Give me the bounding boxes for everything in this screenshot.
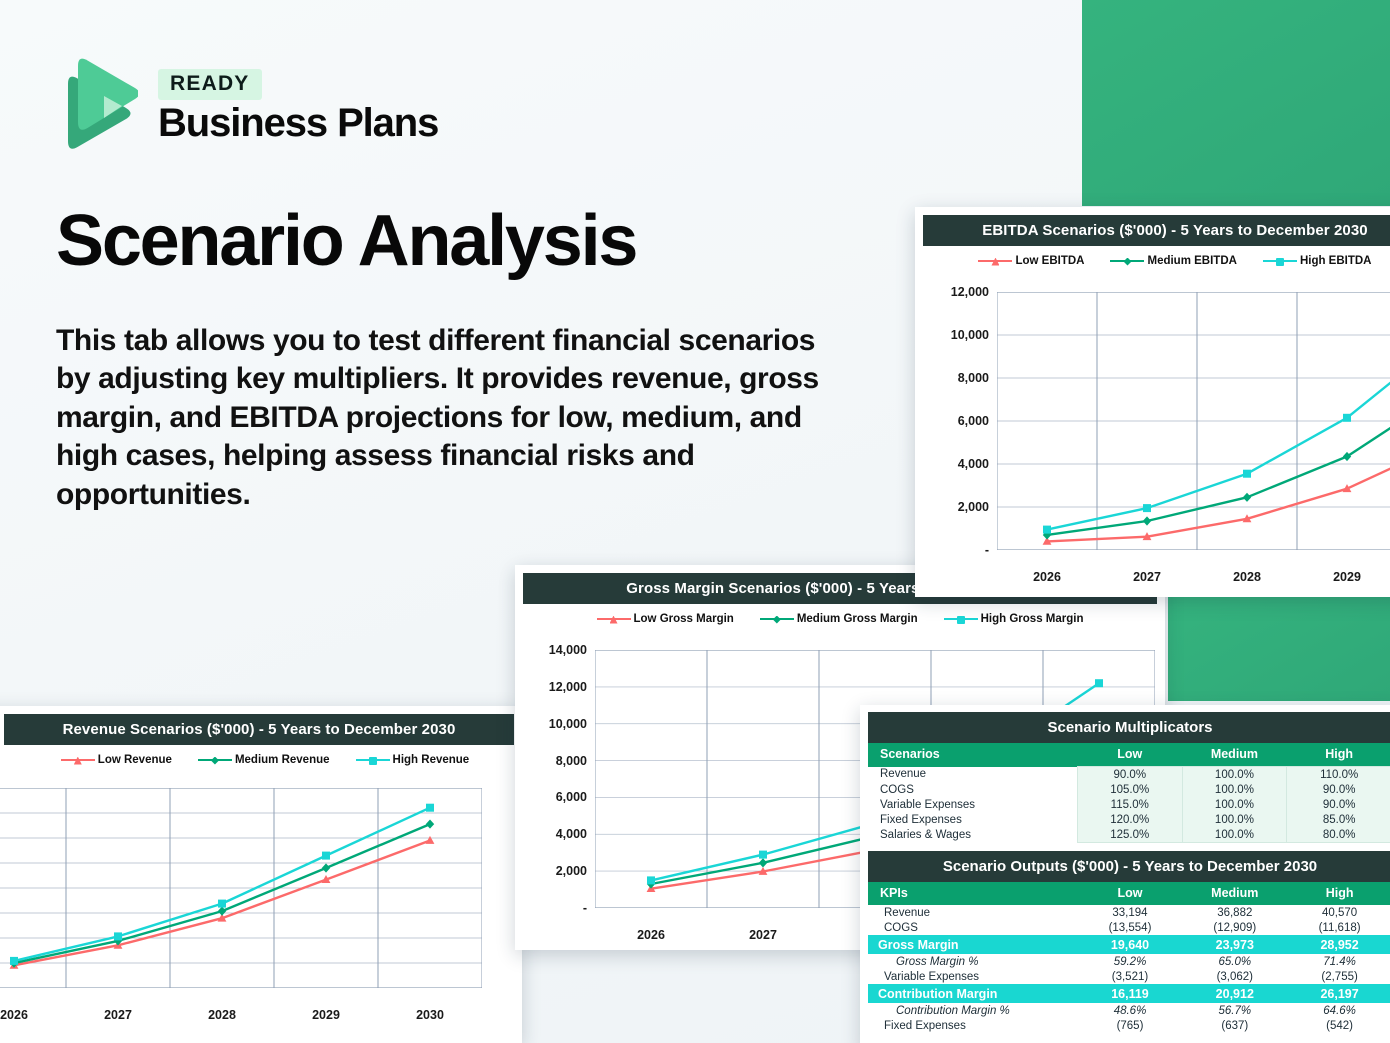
y-axis-tick: 10,000 [517, 717, 587, 731]
legend-label: Low EBITDA [1015, 255, 1084, 267]
cell-high: (2,755) [1287, 969, 1390, 984]
cell-low: 19,640 [1078, 935, 1183, 954]
table-row: Variable Expenses115.0%100.0%90.0% [868, 797, 1390, 812]
legend-item-high-ebitda[interactable]: High EBITDA [1263, 255, 1372, 267]
cell-medium: 56.7% [1182, 1003, 1287, 1018]
x-axis-tick: 2027 [749, 928, 777, 942]
legend-marker-icon [198, 755, 232, 766]
poster-canvas: READY Business Plans Scenario Analysis T… [0, 0, 1390, 1043]
row-label: Revenue [868, 767, 1077, 783]
y-axis-tick: 12,000 [517, 680, 587, 694]
series-line-medium-ebitda [1047, 391, 1390, 535]
cell-medium: (637) [1182, 1018, 1287, 1033]
cell-low: 48.6% [1078, 1003, 1183, 1018]
plot-svg [0, 788, 482, 988]
decorative-green-block-middle [1168, 591, 1390, 701]
y-axis-tick: 4,000 [517, 827, 587, 841]
table-row-total: Contribution Margin16,11920,91226,197 [868, 984, 1390, 1003]
table-header-row: Scenarios Low Medium High [868, 743, 1390, 767]
cell-high: 64.6% [1287, 1003, 1390, 1018]
data-point-marker [647, 876, 655, 884]
multiplicators-title: Scenario Multiplicators [868, 712, 1390, 743]
row-label: Variable Expenses [868, 797, 1077, 812]
scenario-multiplicators-table: Scenarios Low Medium High Revenue90.0%10… [868, 743, 1390, 843]
cell-high: (542) [1287, 1018, 1390, 1033]
data-point-marker [322, 863, 330, 872]
y-axis-tick: 12,000 [919, 285, 989, 299]
brand-name: Business Plans [158, 102, 438, 144]
col-scenarios: Scenarios [868, 743, 1077, 767]
legend-label: High EBITDA [1300, 255, 1372, 267]
row-label: Gross Margin % [868, 954, 1078, 969]
cell-high: 28,952 [1287, 935, 1390, 954]
cell-medium: 36,882 [1182, 905, 1287, 920]
y-axis-tick: 14,000 [517, 643, 587, 657]
legend-item-medium-revenue[interactable]: Medium Revenue [198, 754, 330, 766]
cell-high[interactable]: 110.0% [1287, 767, 1390, 783]
table-row-total: Gross Margin19,64023,97328,952 [868, 935, 1390, 954]
table-row: COGS105.0%100.0%90.0% [868, 782, 1390, 797]
cell-medium[interactable]: 100.0% [1182, 782, 1287, 797]
legend-item-high-gross-margin[interactable]: High Gross Margin [944, 613, 1084, 625]
x-axis-tick: 2030 [416, 1008, 444, 1022]
plot-area: 12,00010,0008,0006,0004,0002,000-2026202… [997, 292, 1390, 550]
table-row: Fixed Expenses120.0%100.0%85.0% [868, 812, 1390, 827]
legend-marker-icon [597, 614, 631, 625]
cell-low[interactable]: 120.0% [1077, 812, 1182, 827]
legend-item-medium-gross-margin[interactable]: Medium Gross Margin [760, 613, 918, 625]
y-axis-tick: 2,000 [517, 864, 587, 878]
row-label: Gross Margin [868, 935, 1078, 954]
table-row: Contribution Margin %48.6%56.7%64.6% [868, 1003, 1390, 1018]
data-point-marker [10, 957, 18, 965]
data-point-marker [218, 900, 226, 908]
legend-marker-icon [944, 614, 978, 625]
table-row: Gross Margin %59.2%65.0%71.4% [868, 954, 1390, 969]
data-point-marker [426, 836, 435, 844]
row-label: Revenue [868, 905, 1078, 920]
data-point-marker [1043, 526, 1051, 534]
cell-low: 59.2% [1078, 954, 1183, 969]
cell-low[interactable]: 105.0% [1077, 782, 1182, 797]
cell-high[interactable]: 80.0% [1287, 827, 1390, 843]
row-label: Fixed Expenses [868, 812, 1077, 827]
outputs-title: Scenario Outputs ($'000) - 5 Years to De… [868, 851, 1390, 882]
chart-legend: Low RevenueMedium RevenueHigh Revenue [0, 745, 522, 770]
chart-legend: Low Gross MarginMedium Gross MarginHigh … [515, 604, 1165, 629]
data-point-marker [218, 907, 226, 916]
cell-high: (11,618) [1287, 920, 1390, 935]
cell-medium[interactable]: 100.0% [1182, 812, 1287, 827]
table-row: Salaries & Wages125.0%100.0%80.0% [868, 827, 1390, 843]
series-line-high-ebitda [1047, 337, 1390, 529]
col-low: Low [1077, 743, 1182, 767]
scenario-tables-card: Scenario Multiplicators Scenarios Low Me… [860, 705, 1390, 1043]
cell-low[interactable]: 115.0% [1077, 797, 1182, 812]
page-description: This tab allows you to test different fi… [56, 322, 856, 514]
chart-title: Revenue Scenarios ($'000) - 5 Years to D… [4, 714, 514, 745]
cell-medium[interactable]: 100.0% [1182, 827, 1287, 843]
cell-medium: 23,973 [1182, 935, 1287, 954]
legend-marker-icon [356, 755, 390, 766]
x-axis-tick: 2026 [0, 1008, 28, 1022]
legend-marker-icon [760, 614, 794, 625]
data-point-marker [1343, 414, 1351, 422]
x-axis-tick: 2029 [1333, 570, 1361, 584]
cell-low: (13,554) [1078, 920, 1183, 935]
y-axis-tick: - [517, 901, 587, 915]
y-axis-tick: 2,000 [919, 500, 989, 514]
legend-marker-icon [978, 256, 1012, 267]
series-line-medium-revenue [14, 824, 430, 963]
x-axis-tick: 2028 [208, 1008, 236, 1022]
cell-medium: 20,912 [1182, 984, 1287, 1003]
data-point-marker [426, 819, 434, 828]
data-point-marker [114, 932, 122, 940]
x-axis-tick: 2027 [1133, 570, 1161, 584]
legend-item-low-gross-margin[interactable]: Low Gross Margin [597, 613, 734, 625]
legend-label: Low Revenue [98, 754, 172, 766]
col-kpis: KPIs [868, 882, 1078, 905]
col-medium: Medium [1182, 882, 1287, 905]
y-axis-tick: 8,000 [517, 754, 587, 768]
legend-label: High Gross Margin [981, 613, 1084, 625]
col-high: High [1287, 743, 1390, 767]
cell-high[interactable]: 85.0% [1287, 812, 1390, 827]
cell-low[interactable]: 90.0% [1077, 767, 1182, 783]
cell-low: 16,119 [1078, 984, 1183, 1003]
plot-svg [997, 292, 1390, 550]
decorative-green-block-top [1082, 0, 1390, 206]
y-axis-tick: 10,000 [919, 328, 989, 342]
chart-title: EBITDA Scenarios ($'000) - 5 Years to De… [923, 215, 1390, 246]
legend-item-high-revenue[interactable]: High Revenue [356, 754, 470, 766]
legend-item-low-revenue[interactable]: Low Revenue [61, 754, 172, 766]
ebitda-chart-card: EBITDA Scenarios ($'000) - 5 Years to De… [915, 207, 1390, 597]
cell-medium: 65.0% [1182, 954, 1287, 969]
plot-area: 20262027202820292030 [0, 788, 482, 988]
row-label: Fixed Expenses [868, 1018, 1078, 1033]
row-label: COGS [868, 782, 1077, 797]
legend-marker-icon [61, 755, 95, 766]
chart-legend: Low EBITDAMedium EBITDAHigh EBITDA [915, 246, 1390, 271]
x-axis-tick: 2026 [637, 928, 665, 942]
outputs-body: Revenue33,19436,88240,570COGS(13,554)(12… [868, 905, 1390, 1033]
data-point-marker [759, 858, 767, 867]
cell-high: 40,570 [1287, 905, 1390, 920]
data-point-marker [426, 804, 434, 812]
x-axis-tick: 2026 [1033, 570, 1061, 584]
table-header-row: KPIs Low Medium High [868, 882, 1390, 905]
table-row: COGS(13,554)(12,909)(11,618) [868, 920, 1390, 935]
x-axis-tick: 2027 [104, 1008, 132, 1022]
cell-high: 71.4% [1287, 954, 1390, 969]
legend-marker-icon [1263, 256, 1297, 267]
y-axis-tick: 6,000 [517, 790, 587, 804]
row-label: COGS [868, 920, 1078, 935]
data-point-marker [1243, 493, 1251, 502]
legend-label: High Revenue [393, 754, 470, 766]
table-row: Revenue33,19436,88240,570 [868, 905, 1390, 920]
data-point-marker [1243, 470, 1251, 478]
brand-text: READY Business Plans [158, 69, 438, 144]
legend-label: Medium Gross Margin [797, 613, 918, 625]
legend-label: Medium EBITDA [1147, 255, 1236, 267]
data-point-marker [322, 852, 330, 860]
multiplicators-body: Revenue90.0%100.0%110.0%COGS105.0%100.0%… [868, 767, 1390, 843]
col-medium: Medium [1182, 743, 1287, 767]
y-axis-tick: 6,000 [919, 414, 989, 428]
cell-medium: (3,062) [1182, 969, 1287, 984]
play-triangle-logo-icon [56, 56, 138, 156]
scenario-outputs-table: KPIs Low Medium High Revenue33,19436,882… [868, 882, 1390, 1033]
row-label: Contribution Margin [868, 984, 1078, 1003]
legend-marker-icon [1110, 256, 1144, 267]
cell-high[interactable]: 90.0% [1287, 782, 1390, 797]
table-row: Fixed Expenses(765)(637)(542) [868, 1018, 1390, 1033]
row-label: Contribution Margin % [868, 1003, 1078, 1018]
ready-badge: READY [158, 69, 262, 100]
legend-label: Low Gross Margin [634, 613, 734, 625]
cell-high[interactable]: 90.0% [1287, 797, 1390, 812]
table-row: Variable Expenses(3,521)(3,062)(2,755) [868, 969, 1390, 984]
y-axis-tick: - [919, 543, 989, 557]
revenue-chart-card: Revenue Scenarios ($'000) - 5 Years to D… [0, 706, 522, 1043]
data-point-marker [759, 851, 767, 859]
col-low: Low [1078, 882, 1183, 905]
brand-lockup: READY Business Plans [56, 56, 438, 156]
col-high: High [1287, 882, 1390, 905]
row-label: Salaries & Wages [868, 827, 1077, 843]
data-point-marker [1095, 679, 1103, 687]
cell-medium[interactable]: 100.0% [1182, 797, 1287, 812]
cell-low: 33,194 [1078, 905, 1183, 920]
cell-low: (3,521) [1078, 969, 1183, 984]
table-row: Revenue90.0%100.0%110.0% [868, 767, 1390, 783]
y-axis-tick: 4,000 [919, 457, 989, 471]
data-point-marker [1143, 504, 1151, 512]
x-axis-tick: 2029 [312, 1008, 340, 1022]
cell-medium[interactable]: 100.0% [1182, 767, 1287, 783]
legend-item-medium-ebitda[interactable]: Medium EBITDA [1110, 255, 1236, 267]
cell-medium: (12,909) [1182, 920, 1287, 935]
cell-low: (765) [1078, 1018, 1183, 1033]
cell-low[interactable]: 125.0% [1077, 827, 1182, 843]
page-title: Scenario Analysis [56, 205, 636, 277]
row-label: Variable Expenses [868, 969, 1078, 984]
legend-item-low-ebitda[interactable]: Low EBITDA [978, 255, 1084, 267]
cell-high: 26,197 [1287, 984, 1390, 1003]
legend-label: Medium Revenue [235, 754, 330, 766]
x-axis-tick: 2028 [1233, 570, 1261, 584]
data-point-marker [1143, 516, 1151, 525]
y-axis-tick: 8,000 [919, 371, 989, 385]
